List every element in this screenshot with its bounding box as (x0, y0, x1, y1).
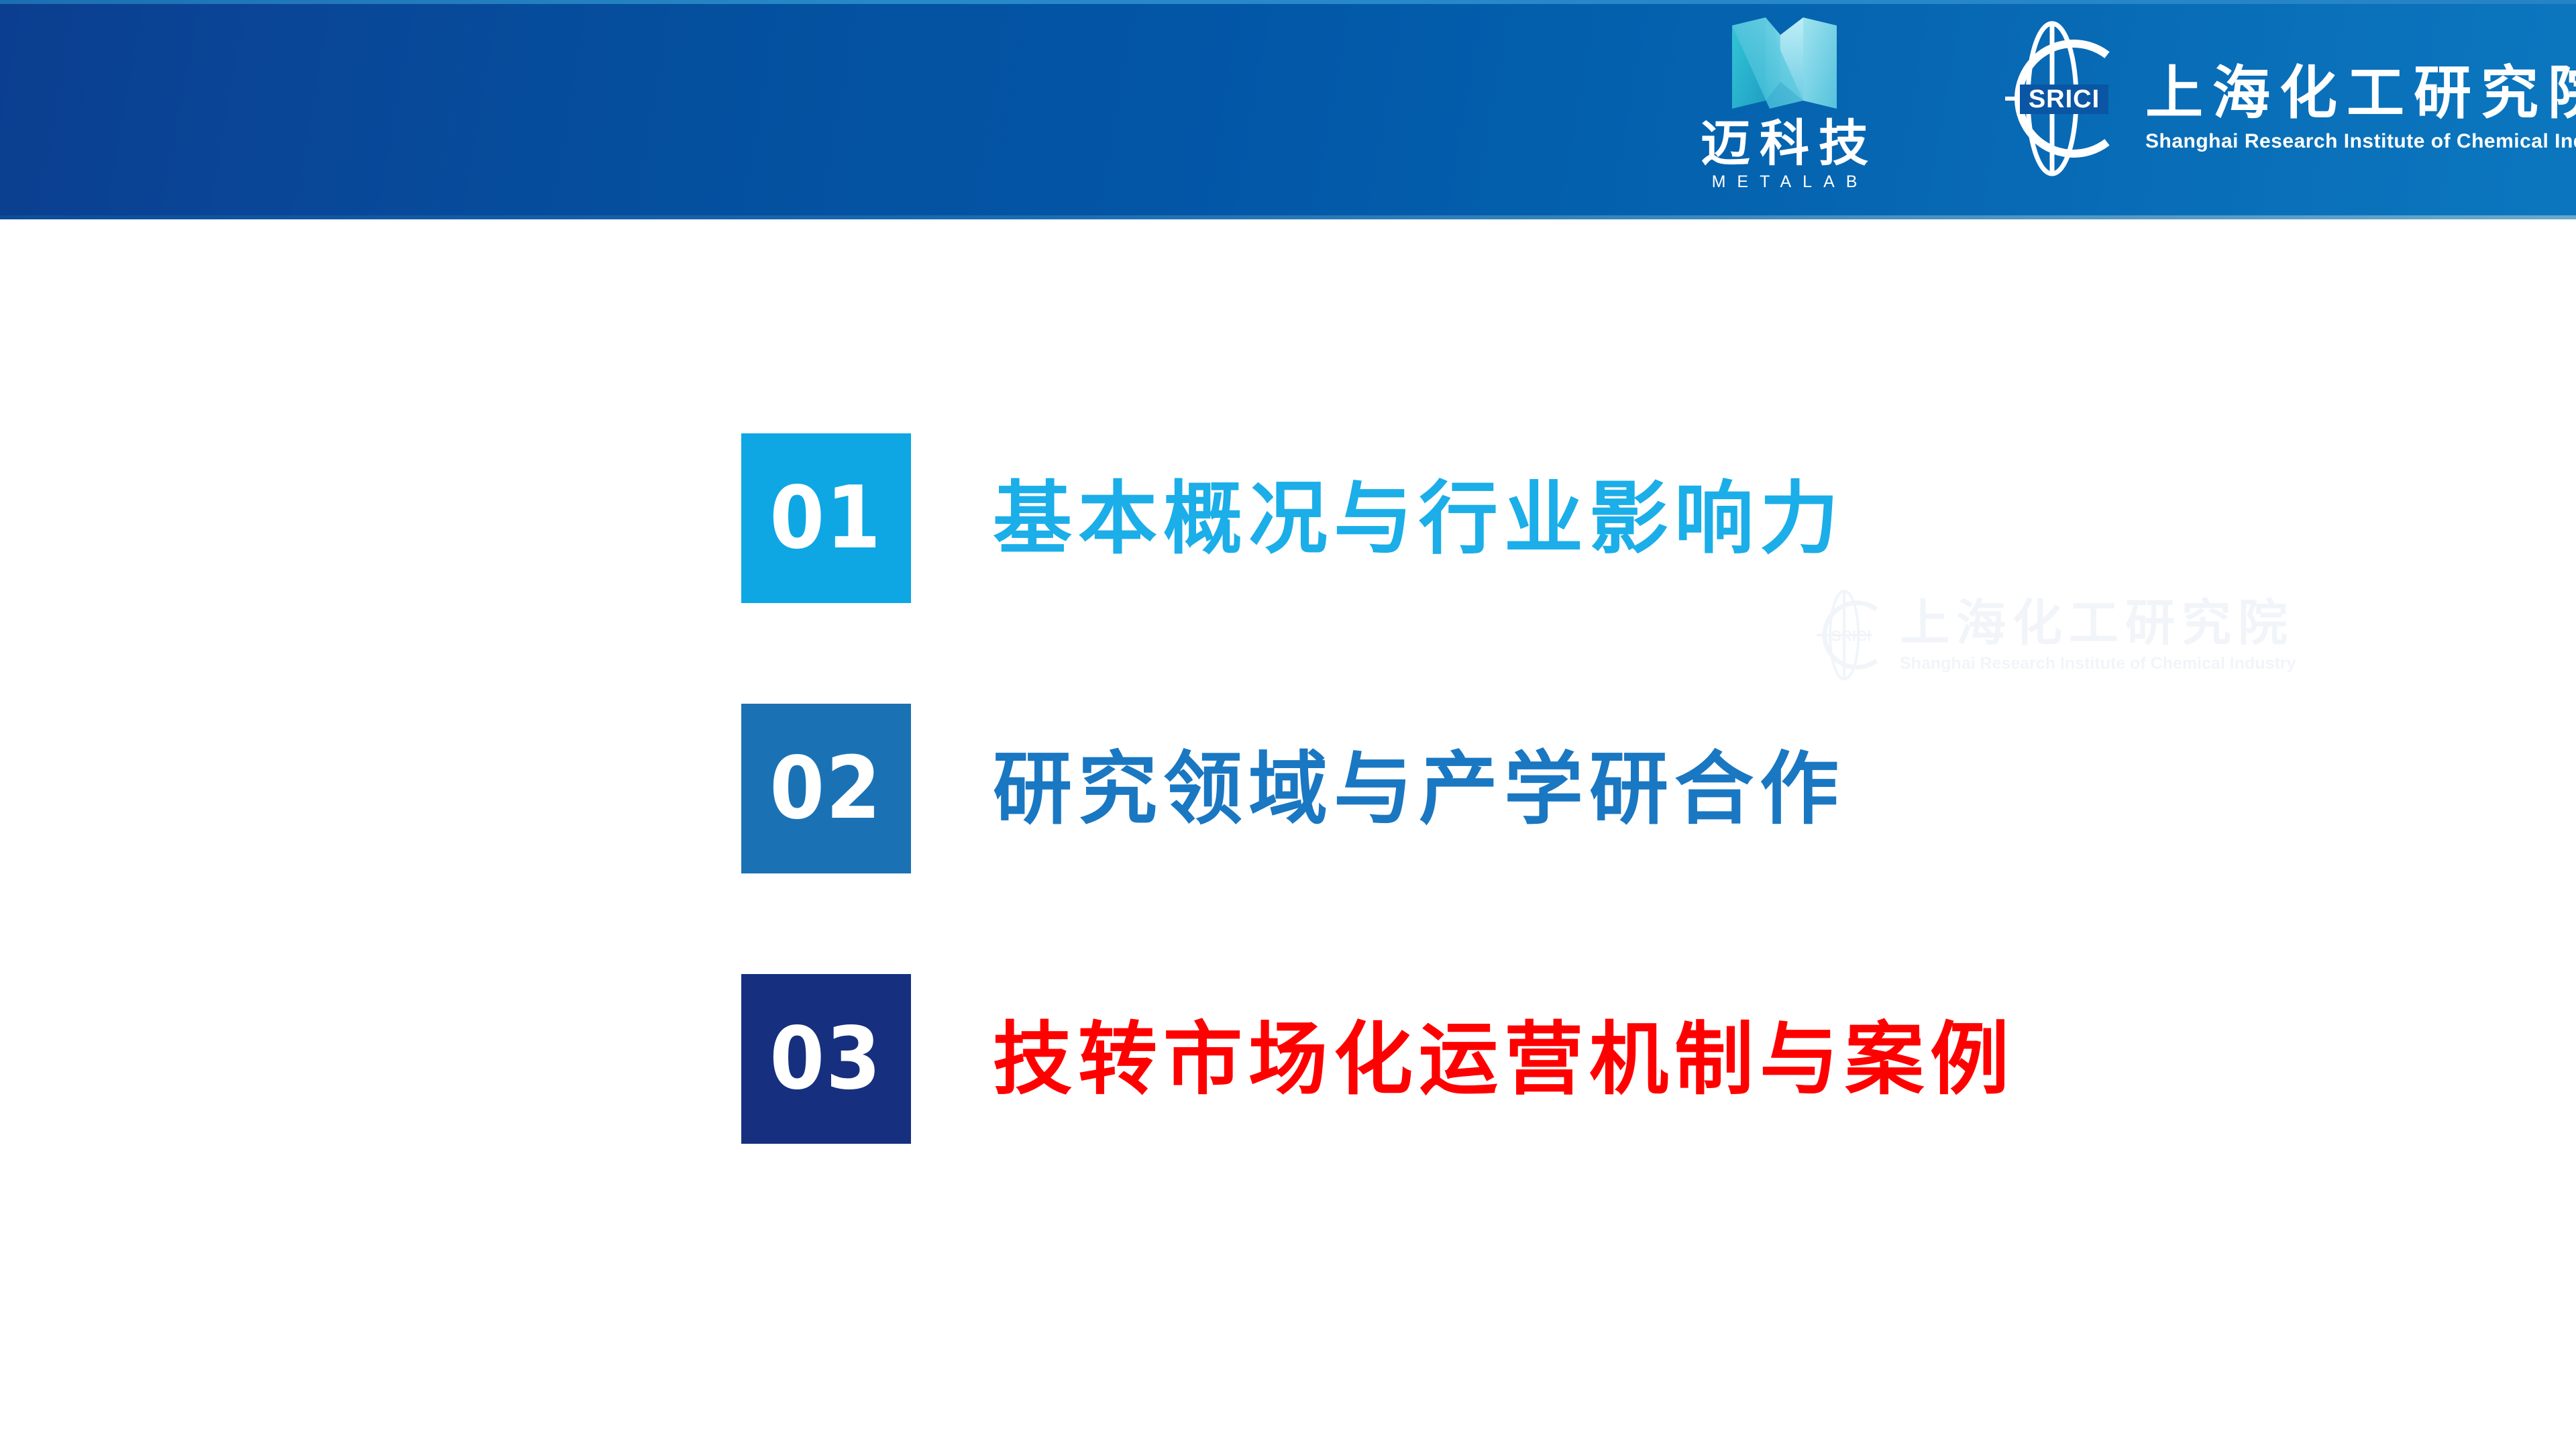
agenda-title-02[interactable]: 研究领域与产学研合作 (993, 749, 1845, 828)
srici-english-name: Shanghai Research Institute of Chemical … (2145, 131, 2576, 152)
header-bar: 迈科技 METALAB SRICI 上海化工研究院 Shanghai Resea… (0, 0, 2576, 219)
metalab-logo: 迈科技 METALAB (1674, 12, 1895, 213)
header-top-accent-line (0, 0, 2576, 4)
agenda-number-box-01: 01 (741, 433, 911, 603)
srici-logo: SRICI 上海化工研究院 Shanghai Research Institut… (1996, 13, 2532, 184)
svg-text:SRICI: SRICI (2029, 85, 2100, 113)
agenda-number-03: 03 (770, 1016, 883, 1102)
agenda-item-03[interactable]: 03 技转市场化运营机制与案例 (741, 974, 2015, 1144)
metalab-cube-logo-icon (1724, 15, 1845, 112)
srici-globe-logo-icon: SRICI (1996, 20, 2133, 178)
metalab-english-name: METALAB (1701, 174, 1869, 191)
metalab-chinese-name: 迈科技 (1691, 119, 1878, 168)
agenda-number-02: 02 (770, 746, 883, 832)
header-bottom-accent-line (0, 215, 2576, 219)
agenda-number-01: 01 (770, 476, 883, 561)
agenda-item-01[interactable]: 01 基本概况与行业影响力 (741, 433, 2015, 603)
srici-chinese-name: 上海化工研究院 (2145, 64, 2576, 122)
agenda-title-01[interactable]: 基本概况与行业影响力 (993, 479, 1845, 558)
agenda-number-box-02: 02 (741, 704, 911, 873)
agenda-list: 01 基本概况与行业影响力 02 研究领域与产学研合作 03 技转市场化运营机制… (741, 433, 2015, 1144)
agenda-number-box-03: 03 (741, 974, 911, 1144)
agenda-item-02[interactable]: 02 研究领域与产学研合作 (741, 704, 2015, 873)
agenda-title-03[interactable]: 技转市场化运营机制与案例 (993, 1020, 2015, 1099)
